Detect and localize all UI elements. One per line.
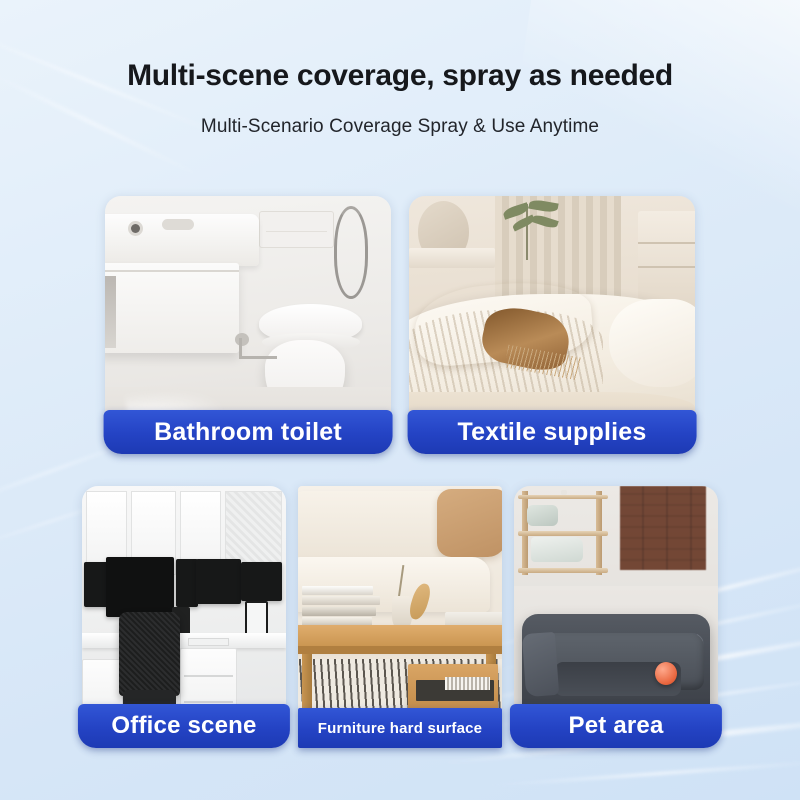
console-table <box>409 248 495 269</box>
coffee-table-edge <box>298 646 502 654</box>
folded-towel <box>531 537 583 562</box>
sofa-cushion <box>437 489 502 557</box>
monitor-icon <box>176 559 198 606</box>
keyboard-icon <box>188 638 229 646</box>
drawer-line <box>184 701 233 703</box>
scene-label-bathroom-toilet: Bathroom toilet <box>104 410 393 454</box>
plant-stem <box>526 204 528 261</box>
pet-bed-corner <box>522 632 559 697</box>
book-icon <box>302 607 376 616</box>
scene-label-furniture-hard-surface: Furniture hard surface <box>298 708 502 748</box>
monitor-icon <box>196 559 241 604</box>
scene-card-pet-area[interactable]: Pet area <box>514 486 718 748</box>
vanity-cabinet <box>105 263 239 353</box>
scene-label-pet-area: Pet area <box>510 704 722 748</box>
scene-card-office-scene[interactable]: Office scene <box>82 486 286 748</box>
page-title: Multi-scene coverage, spray as needed <box>0 58 800 94</box>
shelf-board <box>518 531 608 535</box>
shelf-board <box>518 495 608 499</box>
monitor-icon <box>241 562 282 601</box>
nightstand-drawer-line <box>638 242 695 244</box>
brick-wall <box>620 486 706 570</box>
office-chair-back <box>119 612 180 696</box>
scene-label-office-scene: Office scene <box>78 704 290 748</box>
remote-control-icon <box>445 677 490 690</box>
pet-ball-icon <box>655 662 677 686</box>
shelf-board <box>518 568 608 572</box>
header-block: Multi-scene coverage, spray as needed Mu… <box>0 58 800 138</box>
page-subtitle: Multi-Scenario Coverage Spray & Use Anyt… <box>0 116 800 138</box>
scene-label-textile-supplies: Textile supplies <box>408 410 697 454</box>
scene-card-bathroom-toilet[interactable]: Bathroom toilet <box>105 196 391 454</box>
shower-hose-icon <box>334 206 368 299</box>
nightstand-drawer-line <box>638 266 695 268</box>
scene-grid-bottom: Office scene <box>82 486 718 748</box>
desk-surface <box>82 633 286 649</box>
cabinet-seam <box>105 270 239 272</box>
book-icon <box>302 586 373 595</box>
faucet-icon <box>162 219 193 229</box>
pillow <box>609 299 695 387</box>
cabinet-opening <box>105 276 116 348</box>
book-icon <box>302 596 380 604</box>
wooden-shelf-unit <box>518 491 608 575</box>
folded-towel <box>527 505 558 527</box>
supply-pipe <box>239 356 276 359</box>
light-streak <box>480 759 800 787</box>
scene-grid-top: Bathroom toilet <box>105 196 695 454</box>
wall-panel-icon <box>259 211 333 247</box>
drawer-line <box>184 675 233 677</box>
scene-card-textile-supplies[interactable]: Textile supplies <box>409 196 695 454</box>
book-stack <box>302 586 380 628</box>
monitor-icon <box>106 557 173 617</box>
scene-card-furniture-hard-surface[interactable]: Furniture hard surface <box>298 486 502 748</box>
